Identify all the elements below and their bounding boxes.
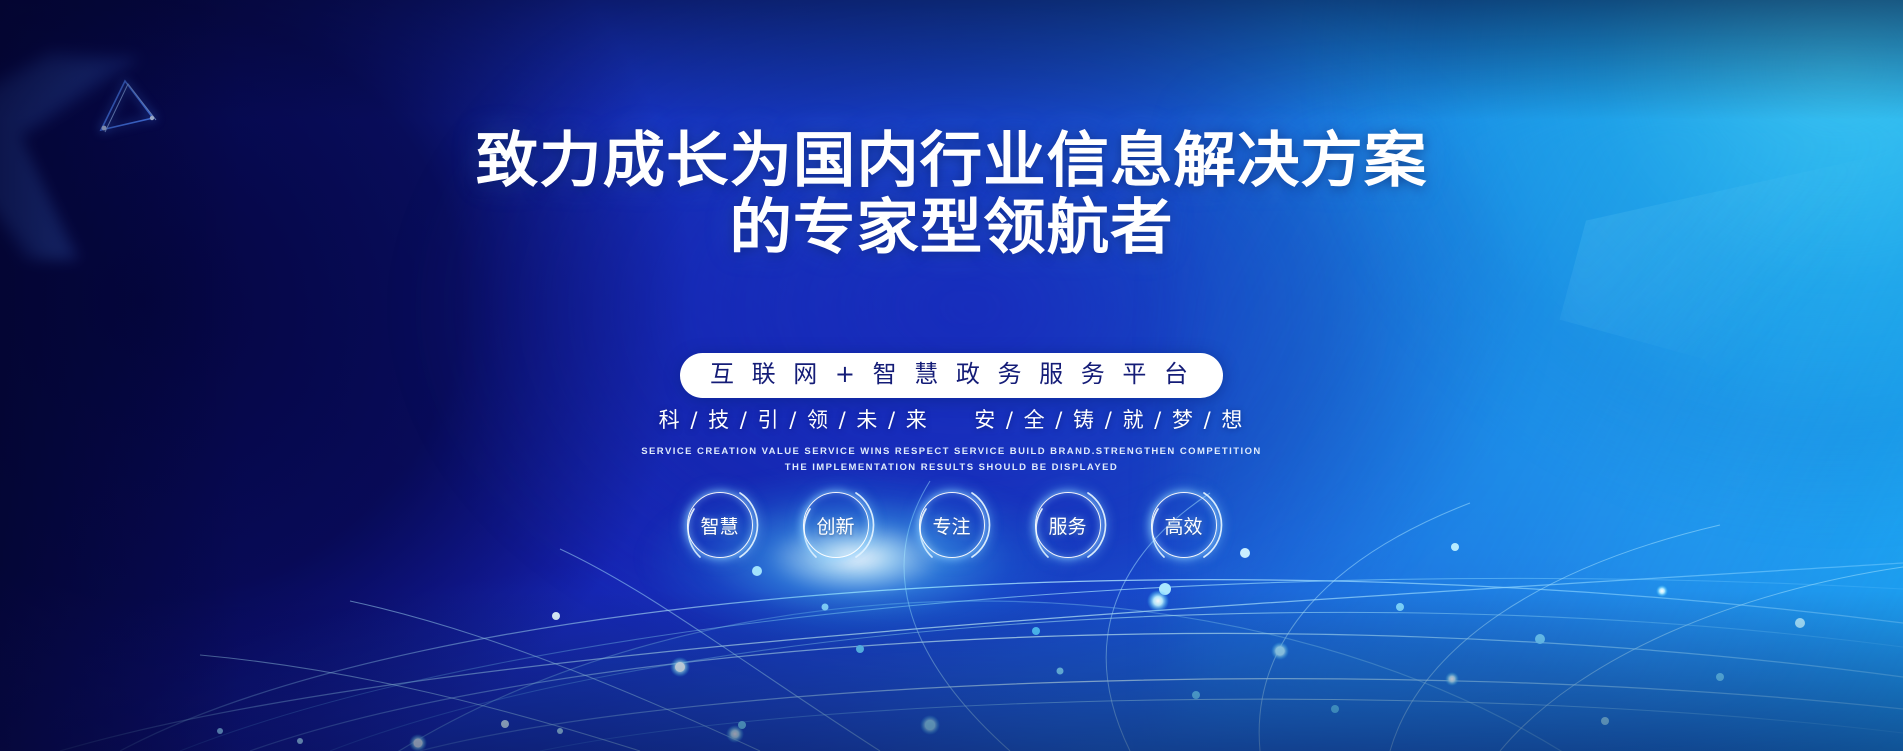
slogan-right: 安 / 全 / 铸 / 就 / 梦 / 想 bbox=[974, 408, 1244, 432]
banner-stage: 致力成长为国内行业信息解决方案 的专家型领航者 互 联 网 + 智 慧 政 务 … bbox=[0, 0, 1903, 751]
badge-label: 服务 bbox=[1048, 512, 1086, 539]
badge-row: 智慧 创新 bbox=[0, 483, 1903, 567]
badge-label: 专注 bbox=[932, 512, 970, 539]
page-title: 致力成长为国内行业信息解决方案 的专家型领航者 bbox=[0, 128, 1903, 262]
badge-item[interactable]: 高效 bbox=[1142, 483, 1226, 567]
badge-label: 创新 bbox=[816, 512, 854, 539]
pill-container: 互 联 网 + 智 慧 政 务 服 务 平 台 bbox=[0, 353, 1903, 398]
badge-item[interactable]: 创新 bbox=[794, 483, 878, 567]
slogan-left: 科 / 技 / 引 / 领 / 未 / 来 bbox=[659, 408, 929, 432]
badge-item[interactable]: 智慧 bbox=[678, 483, 762, 567]
slogan-row: 科 / 技 / 引 / 领 / 未 / 来 安 / 全 / 铸 / 就 / 梦 … bbox=[0, 404, 1903, 434]
headline-line-2: 的专家型领航者 bbox=[0, 195, 1903, 262]
english-tagline: SERVICE CREATION VALUE SERVICE WINS RESP… bbox=[0, 444, 1903, 475]
banner-content: 致力成长为国内行业信息解决方案 的专家型领航者 互 联 网 + 智 慧 政 务 … bbox=[0, 0, 1903, 751]
english-tagline-line-2: THE IMPLEMENTATION RESULTS SHOULD BE DIS… bbox=[0, 460, 1903, 476]
platform-pill-label: 互 联 网 + 智 慧 政 务 服 务 平 台 bbox=[680, 353, 1223, 398]
english-tagline-line-1: SERVICE CREATION VALUE SERVICE WINS RESP… bbox=[0, 444, 1903, 460]
badge-item[interactable]: 服务 bbox=[1026, 483, 1110, 567]
headline-line-1: 致力成长为国内行业信息解决方案 bbox=[0, 128, 1903, 195]
badge-label: 高效 bbox=[1164, 512, 1202, 539]
badge-item[interactable]: 专注 bbox=[910, 483, 994, 567]
badge-label: 智慧 bbox=[700, 512, 738, 539]
